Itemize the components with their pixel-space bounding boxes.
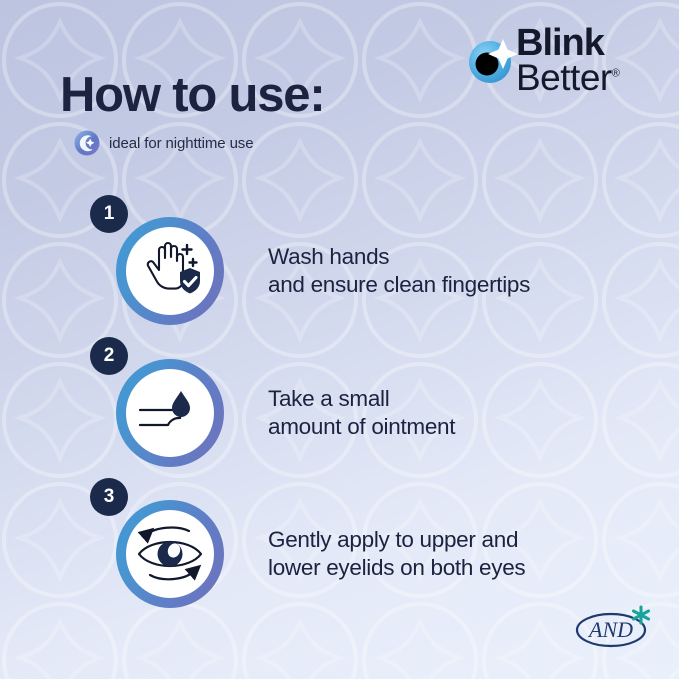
step-text-2: Take a small amount of ointment: [268, 385, 455, 442]
subtitle-row: ideal for nighttime use: [74, 130, 253, 156]
brand-name-bottom-text: Better: [516, 57, 612, 98]
brand-name-top: Blink: [516, 26, 619, 61]
fingertip-ointment-droplet-icon: [126, 369, 214, 457]
poster-canvas: Blink Better® How to use:: [0, 0, 679, 679]
step-text-3: Gently apply to upper and lower eyelids …: [268, 526, 525, 583]
step-item-2: 2 Take a small amount of ointment: [90, 337, 455, 467]
registered-mark: ®: [612, 68, 620, 80]
crescent-moon-icon: [74, 130, 100, 156]
step-item-3: 3: [90, 478, 525, 608]
subtitle-text: ideal for nighttime use: [109, 135, 253, 152]
step-item-1: 1: [90, 195, 530, 325]
washing-hand-shield-check-icon: [126, 227, 214, 315]
brand-name-bottom: Better®: [516, 61, 619, 95]
step-icon-ring-3: [116, 500, 224, 608]
step-number-badge-2: 2: [90, 337, 128, 375]
and-logo-text: AND: [587, 617, 633, 642]
brand-logo: Blink Better®: [466, 28, 619, 95]
step-icon-ring-1: [116, 217, 224, 325]
and-brand-logo: AND: [571, 603, 657, 651]
eye-sparkle-icon: [466, 35, 518, 87]
step-text-1: Wash hands and ensure clean fingertips: [268, 243, 530, 300]
step-icon-ring-2: [116, 359, 224, 467]
page-title: How to use:: [60, 67, 324, 123]
step-number-badge-3: 3: [90, 478, 128, 516]
eye-with-arrows-icon: [126, 510, 214, 598]
step-number-badge-1: 1: [90, 195, 128, 233]
